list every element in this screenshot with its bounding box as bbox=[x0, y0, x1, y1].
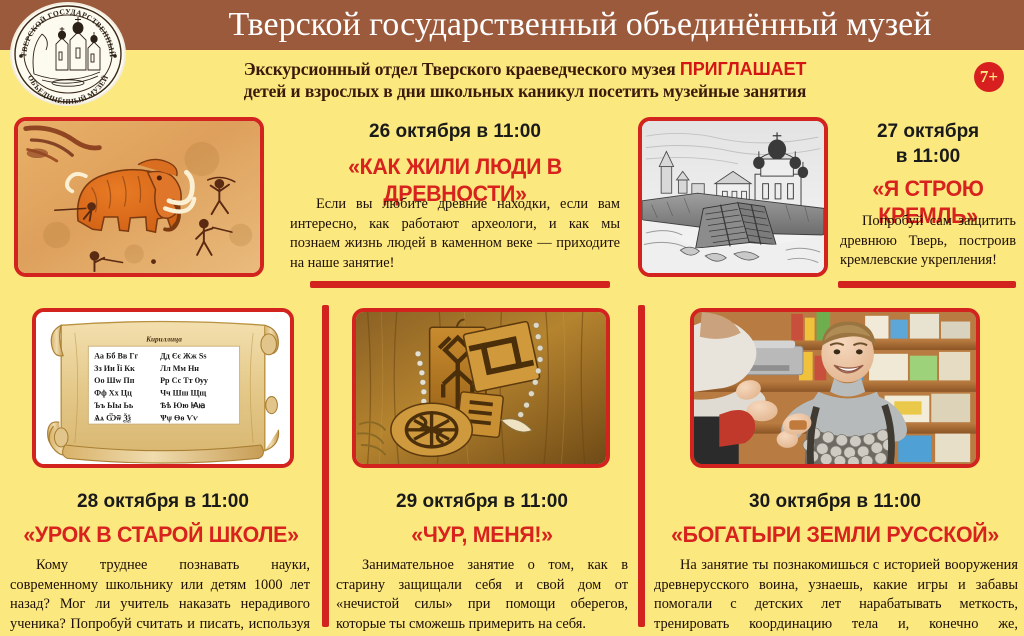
event-5-title: «БОГАТЫРИ ЗЕМЛИ РУССКОЙ» bbox=[656, 521, 1015, 548]
event-image-wooden-amulets bbox=[352, 308, 610, 468]
page-title: Тверской государственный объединённый му… bbox=[150, 2, 1010, 48]
svg-text:Зз Ии Їі Кк: Зз Ии Їі Кк bbox=[94, 364, 135, 373]
event-1-divider-rule bbox=[310, 281, 610, 288]
svg-text:Фф Хх Цц: Фф Хх Цц bbox=[94, 389, 132, 398]
svg-text:Ъъ Ыы Ьь: Ъъ Ыы Ьь bbox=[94, 401, 134, 410]
cyrillic-alphabet-scroll-icon: Кириллица Аа Бб Вв ГгДд Єє Жж Ѕѕ Зз Ии Ї… bbox=[36, 312, 290, 464]
event-image-tver-kremlin bbox=[638, 117, 828, 277]
intro-line-1-text: Экскурсионный отдел Тверского краеведчес… bbox=[244, 59, 680, 79]
intro-line-2: детей и взрослых в дни школьных каникул … bbox=[130, 80, 920, 102]
event-4-title: «ЧУР, МЕНЯ!» bbox=[338, 521, 625, 548]
scroll-caption: Кириллица bbox=[145, 336, 182, 344]
svg-text:Дд Єє Жж Ѕѕ: Дд Єє Жж Ѕѕ bbox=[160, 352, 206, 361]
event-image-boy-in-armour bbox=[690, 308, 980, 468]
intro-line-1: Экскурсионный отдел Тверского краеведчес… bbox=[130, 58, 920, 80]
event-1-date: 26 октября в 11:00 bbox=[280, 119, 630, 144]
event-5-description: На занятие ты познакомишься с историей в… bbox=[654, 556, 1018, 636]
cave-painting-mammoth-hunt-icon bbox=[18, 121, 260, 273]
event-3-date: 28 октября в 11:00 bbox=[10, 489, 316, 514]
column-divider-left bbox=[322, 305, 329, 627]
svg-text:Чч Шш Щщ: Чч Шш Щщ bbox=[160, 389, 206, 398]
museum-emblem-icon: ТВЕРСКОЙ ГОСУДАРСТВЕННЫЙ ОБЪЕДИНЁННЫЙ МУ… bbox=[12, 4, 124, 104]
event-5-date: 30 октября в 11:00 bbox=[654, 489, 1016, 514]
tver-kremlin-engraving-icon bbox=[642, 121, 824, 273]
svg-text:Рр Сс Тт Ѹу: Рр Сс Тт Ѹу bbox=[160, 376, 208, 385]
event-3-description: Кому труднее познавать науки, современно… bbox=[10, 556, 310, 636]
event-2-divider-rule bbox=[838, 281, 1016, 288]
svg-text:Ѱѱ Ѳѳ Ѵѵ: Ѱѱ Ѳѳ Ѵѵ bbox=[160, 413, 198, 422]
poster-root: ТВЕРСКОЙ ГОСУДАРСТВЕННЫЙ ОБЪЕДИНЁННЫЙ МУ… bbox=[0, 0, 1024, 636]
event-1-description: Если вы любите древние находки, если вам… bbox=[290, 195, 620, 273]
event-4-date: 29 октября в 11:00 bbox=[334, 489, 630, 514]
svg-text:Аа Бб Вв Гг: Аа Бб Вв Гг bbox=[94, 352, 138, 361]
svg-text:Лл Мм Нн: Лл Мм Нн bbox=[160, 364, 199, 373]
intro-accent-word: ПРИГЛАШАЕТ bbox=[680, 59, 806, 79]
event-3-title: «УРОК В СТАРОЙ ШКОЛЕ» bbox=[9, 521, 314, 548]
event-image-cyrillic-scroll: Кириллица Аа Бб Вв ГгДд Єє Жж Ѕѕ Зз Ии Ї… bbox=[32, 308, 294, 468]
museum-logo: ТВЕРСКОЙ ГОСУДАРСТВЕННЫЙ ОБЪЕДИНЁННЫЙ МУ… bbox=[10, 2, 126, 106]
column-divider-right bbox=[638, 305, 645, 627]
svg-text:Ѣѣ Юю Ꙗꙗ: Ѣѣ Юю Ꙗꙗ bbox=[160, 401, 206, 410]
wooden-slavic-amulets-icon bbox=[356, 312, 606, 464]
event-2-date-line-1: 27 октября bbox=[840, 119, 1016, 144]
boy-trying-on-armour-icon bbox=[694, 312, 976, 464]
svg-text:Ѧѧ Ѿѿ Ѯѯ: Ѧѧ Ѿѿ Ѯѯ bbox=[94, 412, 132, 422]
svg-text:Оо Шw Пп: Оо Шw Пп bbox=[94, 376, 135, 385]
event-2-date: 27 октября в 11:00 bbox=[840, 119, 1016, 169]
age-rating-badge: 7+ bbox=[974, 62, 1004, 92]
intro-block: Экскурсионный отдел Тверского краеведчес… bbox=[130, 58, 920, 102]
event-4-description: Занимательное занятие о том, как в стари… bbox=[336, 556, 628, 634]
event-2-description: Попробуй сам защитить древнюю Тверь, пос… bbox=[840, 212, 1016, 271]
event-image-cave-painting bbox=[14, 117, 264, 277]
event-2-date-line-2: в 11:00 bbox=[840, 144, 1016, 169]
